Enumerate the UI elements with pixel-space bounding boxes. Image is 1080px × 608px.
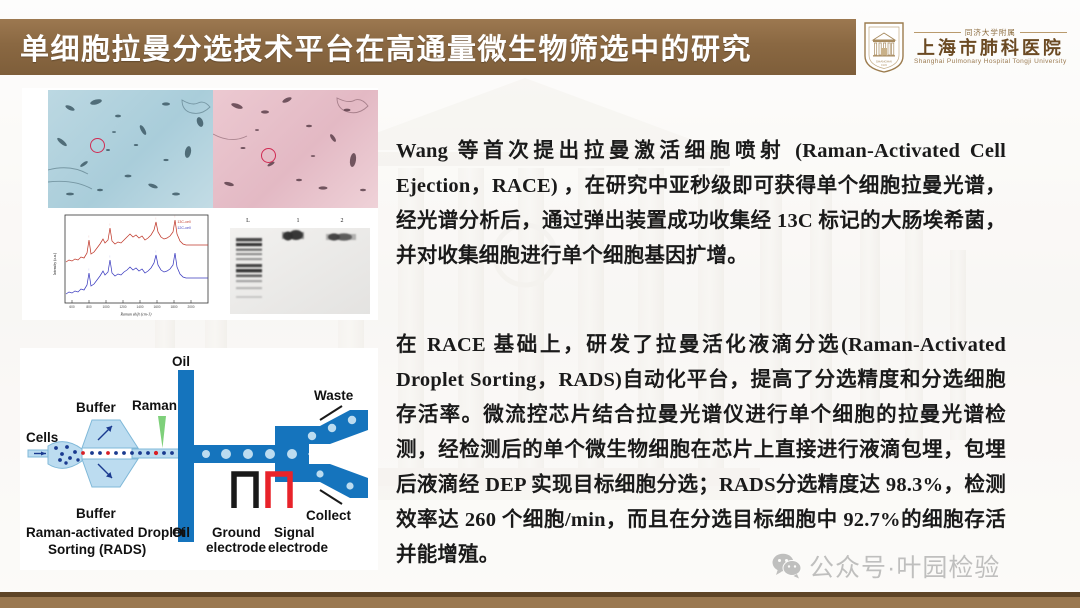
spectra-xlabel: Raman shift (cm-1) [120, 312, 153, 317]
svg-text:1200: 1200 [119, 305, 126, 309]
svg-text:2000: 2000 [187, 305, 194, 309]
rads-title-line-1: Raman-activated Droplet [26, 525, 186, 540]
body-paragraph-1: Wang 等首次提出拉曼激活细胞喷射 (Raman-Activated Cell… [396, 134, 1006, 274]
logo-affiliation-row: 同济大学附属 [914, 29, 1067, 37]
wechat-icon [772, 553, 802, 579]
hospital-logo-wordmark: 同济大学附属 上海市肺科医院 Shanghai Pulmonary Hospit… [914, 29, 1067, 65]
logo-rule-right [1020, 32, 1067, 33]
wechat-watermark: 公众号·叶园检验 [772, 548, 1000, 584]
label-ground-2: electrode [206, 540, 267, 555]
label-signal-1: Signal [274, 525, 315, 540]
svg-text:600: 600 [69, 305, 75, 309]
watermark-text: 公众号·叶园检验 [809, 548, 1000, 584]
svg-text:1600: 1600 [153, 305, 160, 309]
body-paragraph-2: 在 RACE 基础上，研发了拉曼活化液滴分选(Raman-Activated D… [396, 328, 1006, 573]
label-cells: Cells [26, 430, 58, 445]
cell-highlight-circle-stained [261, 148, 276, 163]
slide-title-bar: 单细胞拉曼分选技术平台在高通量微生物筛选中的研究 [0, 19, 856, 75]
logo-affiliation-text: 同济大学附属 [965, 29, 1016, 37]
label-raman: Raman [132, 398, 177, 413]
label-ground-1: Ground [212, 525, 261, 540]
svg-text:1933: 1933 [881, 63, 887, 67]
label-collect: Collect [306, 508, 352, 523]
logo-english-name: Shanghai Pulmonary Hospital Tongji Unive… [914, 59, 1067, 66]
label-oil-top: Oil [172, 354, 190, 369]
hospital-shield-icon: SHANGHAI 1933 [862, 20, 906, 74]
spectra-legend-13c: 13C-cell [177, 220, 190, 224]
label-buffer-top: Buffer [76, 400, 116, 415]
microscopy-stained-image [213, 90, 378, 208]
microscopy-debris-overlay-stained [213, 90, 378, 208]
figure-race-panel: 600800 10001200 14001600 18002000 Raman … [22, 88, 378, 320]
svg-text:1400: 1400 [136, 305, 143, 309]
cell-highlight-circle [90, 138, 105, 153]
gel-lane-label-2: 2 [341, 218, 344, 224]
rads-title-line-2: Sorting (RADS) [48, 542, 146, 557]
microscopy-brightfield-image [48, 90, 213, 208]
svg-text:800: 800 [86, 305, 92, 309]
gel-electrophoresis-image: L 1 2 [222, 210, 378, 318]
microscopy-image-pair [48, 90, 378, 208]
microscopy-debris-overlay [48, 90, 213, 208]
label-waste: Waste [314, 388, 354, 403]
spectra-ylabel: Intensity (a.u.) [53, 252, 57, 275]
spectra-legend-12c: 12C-cell [177, 226, 190, 230]
raman-spectra-chart: 600800 10001200 14001600 18002000 Raman … [48, 210, 216, 318]
rads-diagram: Cells Buffer Buffer Raman Oil Oil Waste … [20, 348, 378, 570]
slide-canvas: 单细胞拉曼分选技术平台在高通量微生物筛选中的研究 SHANGHAI 1933 同… [0, 0, 1080, 608]
label-signal-2: electrode [268, 540, 329, 555]
footer-bar-light [0, 597, 1080, 608]
svg-text:1000: 1000 [102, 305, 109, 309]
logo-rule-left [914, 32, 961, 33]
hospital-logo: SHANGHAI 1933 同济大学附属 上海市肺科医院 Shanghai Pu… [862, 16, 1076, 78]
figure-rads-schematic: Cells Buffer Buffer Raman Oil Oil Waste … [20, 348, 378, 570]
gel-lane-label-1: 1 [297, 218, 300, 224]
gel-lane-label-L: L [246, 218, 250, 224]
svg-text:1800: 1800 [170, 305, 177, 309]
page-title: 单细胞拉曼分选技术平台在高通量微生物筛选中的研究 [0, 26, 752, 68]
label-buffer-bottom: Buffer [76, 506, 116, 521]
logo-hospital-name: 上海市肺科医院 [917, 39, 1064, 57]
